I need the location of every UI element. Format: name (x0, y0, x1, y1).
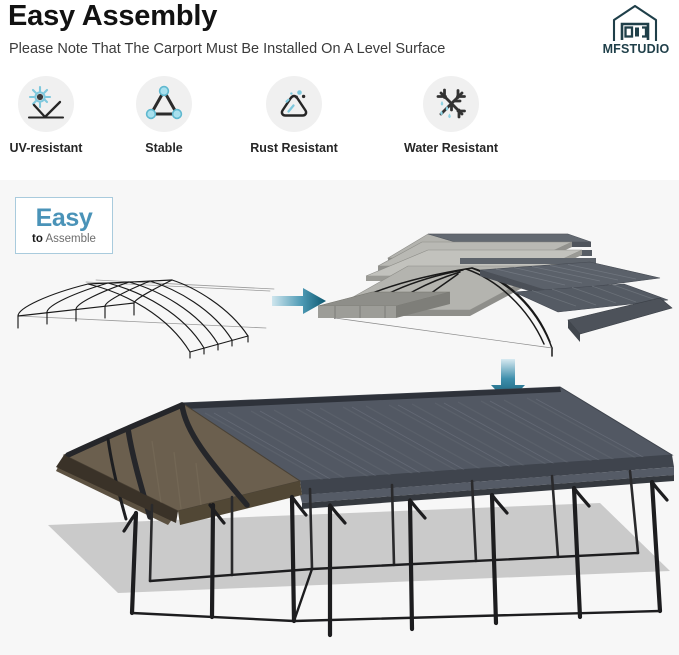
brand-name: MFSTUDIO (597, 42, 675, 56)
header: Easy Assembly Please Note That The Carpo… (0, 0, 679, 70)
assembled-carport-photo (0, 385, 679, 655)
house-logo-icon (609, 4, 661, 42)
shield-droplet-icon (266, 76, 322, 132)
feature-item-rust-resistant: Rust Resistant (238, 72, 350, 155)
sun-uv-deflection-icon (18, 76, 74, 132)
badge-subline-rest: Assemble (43, 233, 96, 245)
feature-item-uv-resistant: UV-resistant (0, 72, 92, 155)
roof-panels-exploded-diagram (300, 222, 679, 372)
assembly-panel: Easy to Assemble (0, 180, 679, 655)
feature-item-water-resistant: Water Resistant (392, 72, 510, 155)
feature-label: Stable (120, 141, 208, 155)
feature-list: UV-resistant Stable (0, 72, 679, 172)
feature-label: Water Resistant (392, 141, 510, 155)
snowflake-raindrop-icon (423, 76, 479, 132)
page-title: Easy Assembly (8, 0, 217, 33)
feature-label: UV-resistant (0, 141, 92, 155)
page-root: Easy Assembly Please Note That The Carpo… (0, 0, 679, 655)
feature-label: Rust Resistant (238, 141, 350, 155)
badge-subline: to Assemble (32, 234, 96, 246)
feature-item-stable: Stable (120, 72, 208, 155)
easy-to-assemble-badge: Easy to Assemble (15, 197, 113, 254)
triangle-nodes-icon (136, 76, 192, 132)
page-subtitle: Please Note That The Carport Must Be Ins… (9, 41, 445, 57)
badge-subline-strong: to (32, 233, 43, 245)
brand-logo: MFSTUDIO (597, 4, 675, 60)
badge-headline: Easy (36, 206, 93, 231)
frame-wireframe-diagram (8, 268, 276, 358)
